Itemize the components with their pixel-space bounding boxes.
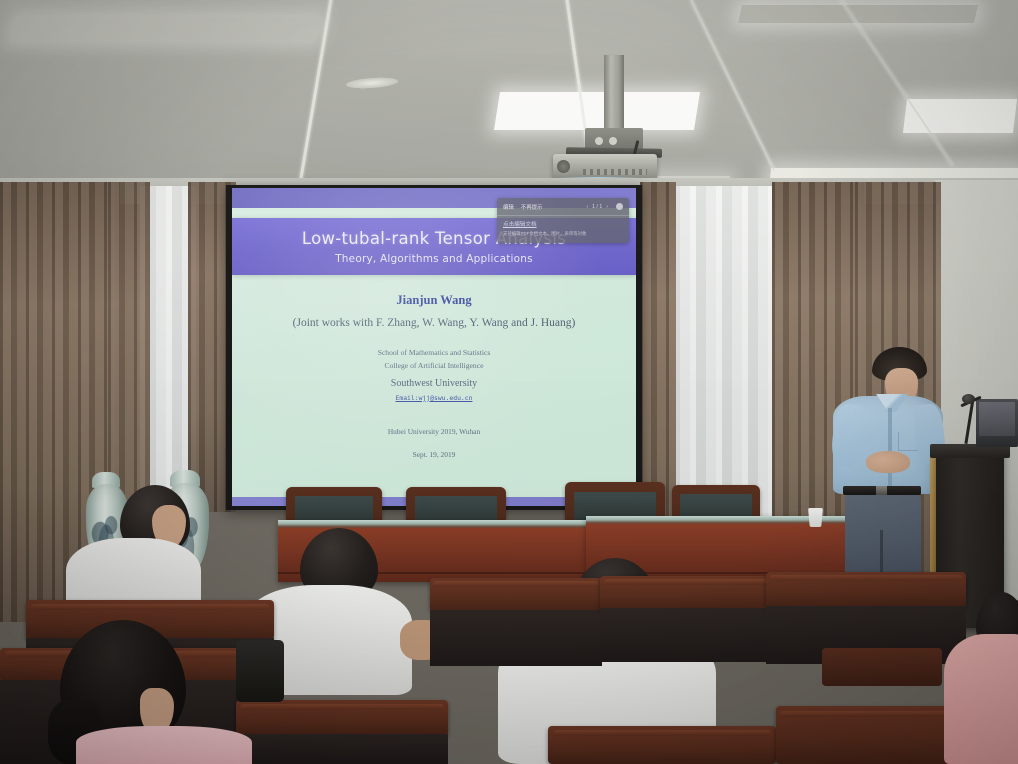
ceiling-clip	[346, 76, 399, 90]
audience-pink-jacket	[944, 634, 1018, 764]
bench-back-panel	[600, 608, 776, 662]
slide-email: Email:wjj@swu.edu.cn	[232, 394, 636, 402]
bench-slat	[433, 581, 598, 587]
projection-screen: Low-tubal-rank Tensor Analysis Theory, A…	[232, 188, 636, 506]
pdf-close-icon[interactable]	[616, 203, 623, 210]
bench-slat	[240, 704, 444, 710]
presentation-slide: Low-tubal-rank Tensor Analysis Theory, A…	[232, 188, 636, 506]
desk-surface	[278, 520, 588, 527]
ceiling	[0, 0, 1018, 200]
pdf-next-page-icon[interactable]: ›	[606, 204, 608, 210]
pdf-tooltip-headline[interactable]: 点击编辑文档	[497, 216, 629, 228]
laptop-screen	[979, 402, 1015, 436]
pdf-prev-page-icon[interactable]: ‹	[586, 204, 588, 210]
presenter-hands	[866, 451, 910, 473]
pdf-tooltip-toolbar: 编辑 不再提示 ‹ 1 / 1 ›	[497, 198, 629, 216]
bench-back-panel	[430, 610, 602, 666]
audience-bench	[600, 576, 776, 610]
slide-date: Sept. 19, 2019	[232, 450, 636, 459]
bench-slat	[31, 604, 269, 610]
bench-slat	[780, 711, 962, 717]
pdf-tooltip-description: 支持编辑PDF文档文本、图片、表单等对象	[497, 228, 629, 237]
bench-back-panel	[236, 734, 448, 764]
presenter-belt-buckle	[876, 486, 887, 495]
audience-bench	[766, 572, 966, 608]
foreground-bench	[776, 706, 966, 764]
pdf-dismiss-button[interactable]: 不再提示	[521, 203, 543, 211]
desk-surface	[586, 516, 868, 523]
ceiling-light-panel	[494, 92, 700, 130]
microphone-icon	[962, 394, 975, 404]
bench-slat	[604, 579, 773, 585]
laptop	[976, 399, 1018, 447]
audience-pink-top	[76, 726, 252, 764]
presentation-photo: Low-tubal-rank Tensor Analysis Theory, A…	[0, 0, 1018, 764]
slide-body: Jianjun Wang (Joint works with F. Zhang,…	[232, 280, 636, 459]
pdf-edit-tooltip[interactable]: 编辑 不再提示 ‹ 1 / 1 › 点击编辑文档 支持编辑PDF文档文本、图片、…	[497, 198, 629, 243]
ceiling-tile-dark	[738, 5, 978, 23]
bench-slat	[770, 575, 962, 581]
ceiling-seam	[840, 0, 953, 166]
audience-bench	[430, 578, 602, 612]
foreground-bench	[548, 726, 776, 764]
pdf-page-indicator: 1 / 1	[592, 204, 602, 210]
slide-university: Southwest University	[232, 378, 636, 389]
foreground-bench	[236, 700, 448, 736]
paper-cup	[808, 508, 823, 527]
bench-slat	[553, 730, 772, 736]
slide-author: Jianjun Wang	[232, 293, 636, 308]
slide-subtitle: Theory, Algorithms and Applications	[335, 253, 533, 265]
ceiling-seam	[690, 0, 775, 171]
slide-venue: Hubei University 2019, Wuhan	[232, 427, 636, 436]
shoulder-bag	[236, 640, 284, 702]
slide-affiliation-line1: School of Mathematics and Statistics	[232, 346, 636, 359]
presenter-shirt-placket	[888, 408, 892, 486]
projector-mount-pole	[604, 55, 624, 133]
ceiling-light-panel	[10, 17, 322, 41]
foreground-bench-armrest	[822, 648, 942, 686]
slide-affiliation-line2: College of Artificial Intelligence	[232, 359, 636, 372]
pdf-edit-button[interactable]: 编辑	[503, 203, 514, 211]
slide-joint-works: (Joint works with F. Zhang, W. Wang, Y. …	[232, 317, 636, 329]
